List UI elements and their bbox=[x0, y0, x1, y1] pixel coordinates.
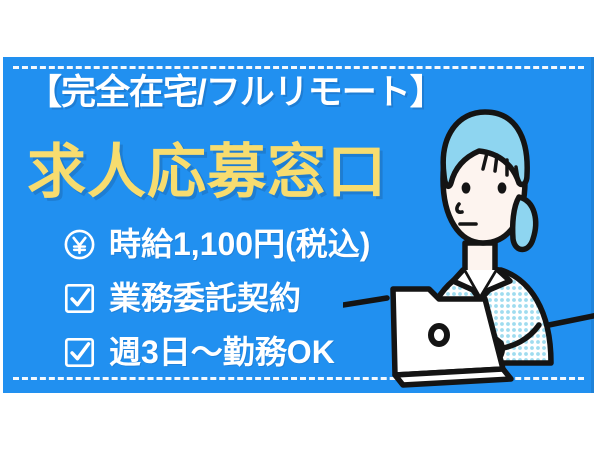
job-ad-banner: 【完全在宅/フルリモート】 求人応募窓口 時給1,100円(税込) bbox=[3, 57, 594, 393]
list-item-label: 週3日〜勤務OK bbox=[109, 336, 335, 368]
illustration-svg bbox=[343, 57, 594, 393]
poster-canvas: 【完全在宅/フルリモート】 求人応募窓口 時給1,100円(税込) bbox=[0, 0, 600, 449]
list-item: 業務委託契約 bbox=[63, 271, 370, 325]
list-item-label: 業務委託契約 bbox=[109, 282, 301, 314]
checkbox-checked-icon bbox=[63, 282, 96, 315]
checkbox-checked-icon bbox=[63, 336, 96, 369]
list-item-label: 時給1,100円(税込) bbox=[109, 228, 370, 260]
woman-with-laptop-illustration bbox=[343, 57, 594, 393]
laptop-base bbox=[395, 369, 511, 385]
headline-text: 求人応募窓口 bbox=[27, 143, 387, 202]
yen-circle-icon bbox=[63, 228, 96, 261]
eye-left bbox=[462, 182, 471, 193]
ponytail bbox=[513, 197, 536, 250]
list-item: 週3日〜勤務OK bbox=[63, 325, 370, 379]
eye-right bbox=[498, 182, 507, 193]
list-item: 時給1,100円(税込) bbox=[63, 217, 370, 271]
benefits-list: 時給1,100円(税込) 業務委託契約 週3日〜勤務OK bbox=[63, 217, 370, 379]
desk-line bbox=[343, 298, 387, 305]
